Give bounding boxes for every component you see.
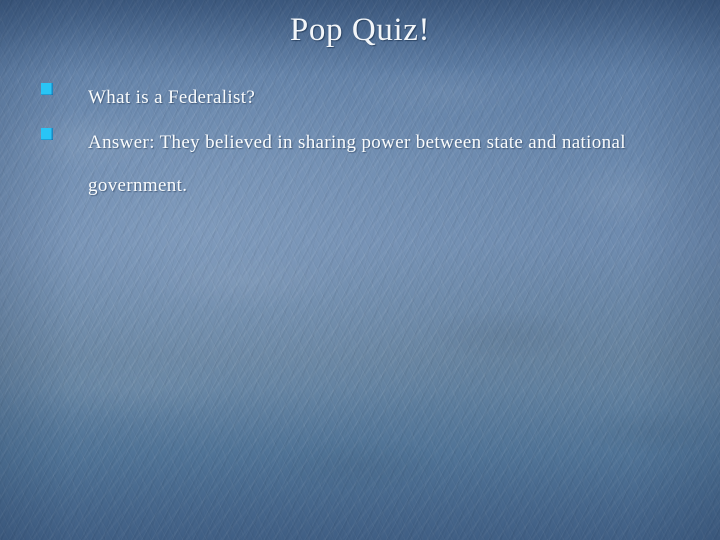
square-bullet-icon <box>41 128 53 140</box>
list-item: What is a Federalist? <box>0 76 720 121</box>
presentation-slide: Pop Quiz! What is a Federalist? Answer: … <box>0 0 720 540</box>
bullet-text: What is a Federalist? <box>88 76 644 119</box>
square-bullet-icon <box>41 83 53 95</box>
bullet-list: What is a Federalist? Answer: They belie… <box>0 76 720 207</box>
bullet-text: Answer: They believed in sharing power b… <box>88 121 644 207</box>
slide-title: Pop Quiz! <box>0 8 720 52</box>
list-item: Answer: They believed in sharing power b… <box>0 121 720 207</box>
slide-content: Pop Quiz! What is a Federalist? Answer: … <box>0 0 720 540</box>
